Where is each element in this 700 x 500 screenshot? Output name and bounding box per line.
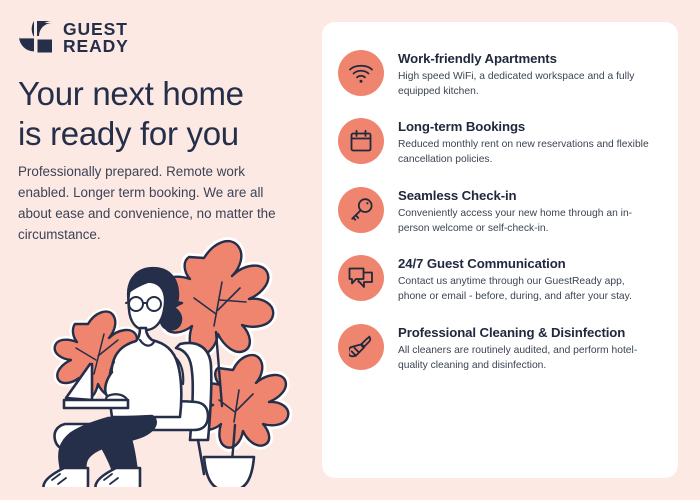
feature-description: Contact us anytime through our GuestRead… (398, 275, 650, 305)
key-icon (338, 187, 384, 233)
wifi-icon (338, 50, 384, 96)
feature-item-work-friendly-apartments[interactable]: Work-friendly Apartments High speed WiFi… (338, 48, 664, 99)
promo-graphic: GUEST READY Your next home is ready for … (0, 0, 700, 500)
feature-title: Professional Cleaning & Disinfection (398, 325, 650, 341)
feature-description: All cleaners are routinely audited, and … (398, 344, 650, 374)
feature-title: Seamless Check-in (398, 188, 650, 204)
feature-description: Conveniently access your new home throug… (398, 207, 650, 237)
feature-title: Work-friendly Apartments (398, 51, 650, 67)
hero-illustration (28, 222, 313, 487)
feature-text: Work-friendly Apartments High speed WiFi… (398, 48, 650, 99)
guestready-quadrant-logo-icon (18, 20, 54, 56)
page-title: Your next home is ready for you (18, 74, 308, 154)
feature-title: 24/7 Guest Communication (398, 256, 650, 272)
chat-bubbles-icon (338, 255, 384, 301)
feature-item-guest-communication[interactable]: 24/7 Guest Communication Contact us anyt… (338, 253, 664, 304)
hero-column: GUEST READY Your next home is ready for … (0, 0, 320, 500)
feature-description: Reduced monthly rent on new reservations… (398, 138, 650, 168)
brand-logo: GUEST READY (18, 20, 129, 56)
features-card: Work-friendly Apartments High speed WiFi… (322, 22, 678, 478)
feature-text: 24/7 Guest Communication Contact us anyt… (398, 253, 650, 304)
feature-title: Long-term Bookings (398, 119, 650, 135)
feature-text: Professional Cleaning & Disinfection All… (398, 322, 650, 373)
feature-item-long-term-bookings[interactable]: Long-term Bookings Reduced monthly rent … (338, 116, 664, 167)
feature-text: Seamless Check-in Conveniently access yo… (398, 185, 650, 236)
brand-wordmark: GUEST READY (63, 21, 129, 55)
feature-text: Long-term Bookings Reduced monthly rent … (398, 116, 650, 167)
feature-list: Work-friendly Apartments High speed WiFi… (338, 48, 664, 373)
brand-name-line2: READY (63, 38, 129, 55)
feature-item-professional-cleaning[interactable]: Professional Cleaning & Disinfection All… (338, 322, 664, 373)
broom-icon (338, 324, 384, 370)
calendar-icon (338, 118, 384, 164)
feature-item-seamless-check-in[interactable]: Seamless Check-in Conveniently access yo… (338, 185, 664, 236)
feature-description: High speed WiFi, a dedicated workspace a… (398, 70, 650, 100)
